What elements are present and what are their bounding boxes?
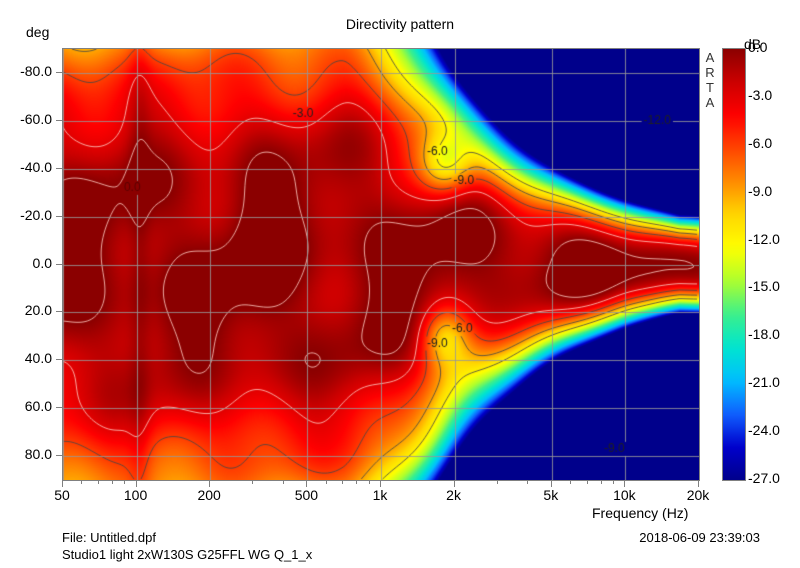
colorbar-tick-label: -18.0 (748, 326, 780, 342)
x-minor-tick-mark (369, 481, 370, 484)
y-tick-label: 0.0 (0, 255, 52, 271)
x-tick-label: 5k (521, 487, 581, 503)
heatmap-plot-area[interactable] (62, 48, 700, 481)
y-tick-label: 40.0 (0, 350, 52, 366)
x-minor-tick-mark (62, 481, 63, 484)
x-minor-tick-mark (613, 481, 614, 484)
y-tick-mark (56, 311, 62, 312)
y-tick-label: -80.0 (0, 63, 52, 79)
x-minor-tick-mark (136, 481, 137, 484)
x-tick-label: 50 (32, 487, 92, 503)
x-tick-label: 2k (424, 487, 484, 503)
y-tick-label: -20.0 (0, 207, 52, 223)
x-tick-label: 500 (276, 487, 336, 503)
y-tick-mark (56, 72, 62, 73)
colorbar-scale (722, 48, 746, 481)
colorbar-tick-label: -21.0 (748, 374, 780, 390)
colorbar-tick-label: 0.0 (748, 39, 767, 55)
arta-watermark: ARTA (702, 50, 718, 110)
x-minor-tick-mark (698, 481, 699, 484)
x-minor-tick-mark (356, 481, 357, 484)
x-minor-tick-mark (601, 481, 602, 484)
y-tick-mark (56, 359, 62, 360)
x-tick-label: 20k (668, 487, 728, 503)
x-tick-label: 1k (350, 487, 410, 503)
y-tick-label: 80.0 (0, 446, 52, 462)
y-axis-unit-label: deg (26, 24, 49, 40)
arta-watermark-letter: T (702, 80, 718, 95)
x-minor-tick-mark (342, 481, 343, 484)
x-minor-tick-mark (81, 481, 82, 484)
x-tick-label: 100 (106, 487, 166, 503)
x-minor-tick-mark (283, 481, 284, 484)
footer-timestamp: 2018-06-09 23:39:03 (639, 530, 760, 545)
footer-description: Studio1 light 2xW130S G25FFL WG Q_1_x (62, 547, 312, 562)
directivity-pattern-window: Directivity pattern deg Frequency (Hz) d… (0, 0, 800, 568)
y-tick-mark (56, 455, 62, 456)
x-minor-tick-mark (98, 481, 99, 484)
x-axis-title: Frequency (Hz) (592, 505, 688, 521)
x-minor-tick-mark (454, 481, 455, 484)
x-minor-tick-mark (112, 481, 113, 484)
x-minor-tick-mark (497, 481, 498, 484)
x-minor-tick-mark (380, 481, 381, 484)
y-tick-label: -40.0 (0, 159, 52, 175)
x-minor-tick-mark (527, 481, 528, 484)
y-tick-mark (56, 168, 62, 169)
x-minor-tick-mark (306, 481, 307, 484)
x-minor-tick-mark (624, 481, 625, 484)
colorbar-tick-label: -3.0 (748, 87, 772, 103)
x-tick-label: 10k (594, 487, 654, 503)
x-minor-tick-mark (124, 481, 125, 484)
contour-and-grid-overlay (63, 49, 699, 480)
x-minor-tick-mark (551, 481, 552, 484)
y-tick-mark (56, 216, 62, 217)
x-minor-tick-mark (209, 481, 210, 484)
arta-watermark-letter: A (702, 95, 718, 110)
y-tick-mark (56, 120, 62, 121)
y-tick-label: 60.0 (0, 398, 52, 414)
x-minor-tick-mark (326, 481, 327, 484)
colorbar-tick-label: -27.0 (748, 470, 780, 486)
page-title: Directivity pattern (0, 16, 800, 32)
x-minor-tick-mark (587, 481, 588, 484)
arta-watermark-letter: A (702, 50, 718, 65)
x-minor-tick-mark (252, 481, 253, 484)
y-tick-mark (56, 407, 62, 408)
x-tick-label: 200 (179, 487, 239, 503)
y-tick-label: 20.0 (0, 302, 52, 318)
footer-file-name: File: Untitled.dpf (62, 530, 156, 545)
y-tick-mark (56, 264, 62, 265)
colorbar-tick-label: -12.0 (748, 231, 780, 247)
colorbar-tick-label: -9.0 (748, 183, 772, 199)
arta-watermark-letter: R (702, 65, 718, 80)
colorbar-tick-label: -6.0 (748, 135, 772, 151)
y-tick-label: -60.0 (0, 111, 52, 127)
x-minor-tick-mark (570, 481, 571, 484)
colorbar-tick-label: -15.0 (748, 278, 780, 294)
colorbar-tick-label: -24.0 (748, 422, 780, 438)
